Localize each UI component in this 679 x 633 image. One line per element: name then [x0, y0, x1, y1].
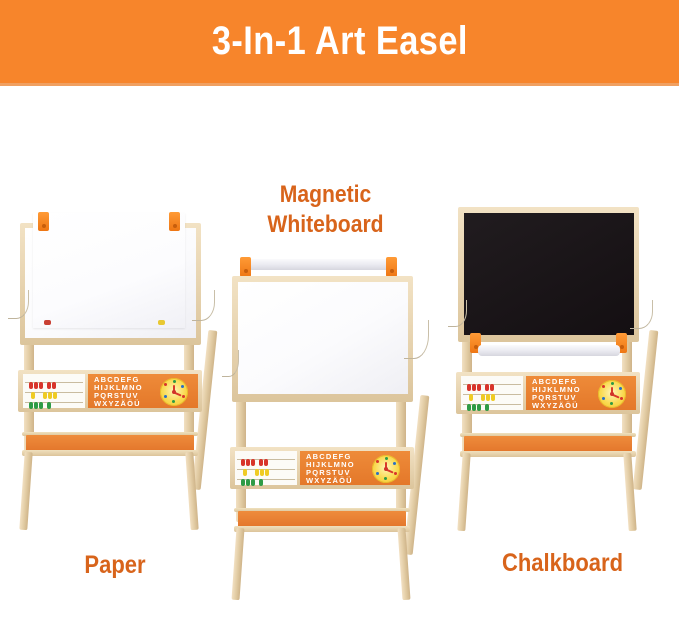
- chalkboard-surface[interactable]: [464, 213, 634, 335]
- banner-bottom-edge: [0, 83, 679, 86]
- storage-tray: [22, 432, 198, 458]
- label-magnetic-whiteboard: Magnetic Whiteboard: [249, 180, 403, 240]
- paper-clip-right[interactable]: [169, 212, 180, 231]
- clock-icon: [160, 378, 188, 406]
- label-line-2: Whiteboard: [249, 210, 403, 240]
- magnet-left: [44, 320, 51, 325]
- alphabet-row-4: WXYZÄÖÜ: [532, 402, 579, 410]
- abacus[interactable]: [461, 376, 523, 410]
- paper-roll: [248, 259, 390, 270]
- header-banner: 3-In-1 Art Easel: [0, 0, 679, 83]
- alphabet-row-4: WXYZÄÖÜ: [94, 400, 141, 408]
- page-title: 3-In-1 Art Easel: [211, 19, 467, 64]
- magnet-right: [158, 320, 165, 325]
- label-paper: Paper: [67, 551, 164, 580]
- leg-front-left: [19, 452, 32, 530]
- support-cord-right: [630, 300, 653, 329]
- paper-sheet: [33, 213, 185, 328]
- accessory-panel: ABCDEFG HIJKLMNO PQRSTUV WXYZÄÖÜ: [456, 372, 640, 414]
- clock-icon: [372, 455, 400, 483]
- storage-tray: [234, 508, 410, 534]
- support-cord-right: [404, 320, 429, 359]
- roll-clip-left[interactable]: [240, 257, 251, 277]
- abacus[interactable]: [235, 451, 297, 485]
- alphabet-panel: ABCDEFG HIJKLMNO PQRSTUV WXYZÄÖÜ: [300, 451, 410, 485]
- alphabet-row-4: WXYZÄÖÜ: [306, 477, 353, 485]
- paper-roll: [478, 345, 620, 356]
- storage-tray: [460, 433, 636, 459]
- leg-front-left: [457, 453, 470, 531]
- leg-front-left: [231, 528, 244, 600]
- roll-clip-right[interactable]: [386, 257, 397, 277]
- whiteboard-surface[interactable]: [238, 282, 408, 394]
- accessory-panel: ABCDEFG HIJKLMNO PQRSTUV WXYZÄÖÜ: [18, 370, 202, 412]
- abacus[interactable]: [23, 374, 85, 408]
- support-cord-right: [192, 290, 215, 321]
- label-chalkboard: Chalkboard: [499, 549, 627, 578]
- alphabet-panel: ABCDEFG HIJKLMNO PQRSTUV WXYZÄÖÜ: [88, 374, 198, 408]
- alphabet-panel: ABCDEFG HIJKLMNO PQRSTUV WXYZÄÖÜ: [526, 376, 636, 410]
- paper-clip-left[interactable]: [38, 212, 49, 231]
- accessory-panel: ABCDEFG HIJKLMNO PQRSTUV WXYZÄÖÜ: [230, 447, 414, 489]
- label-line-1: Magnetic: [249, 180, 403, 210]
- clock-icon: [598, 380, 626, 408]
